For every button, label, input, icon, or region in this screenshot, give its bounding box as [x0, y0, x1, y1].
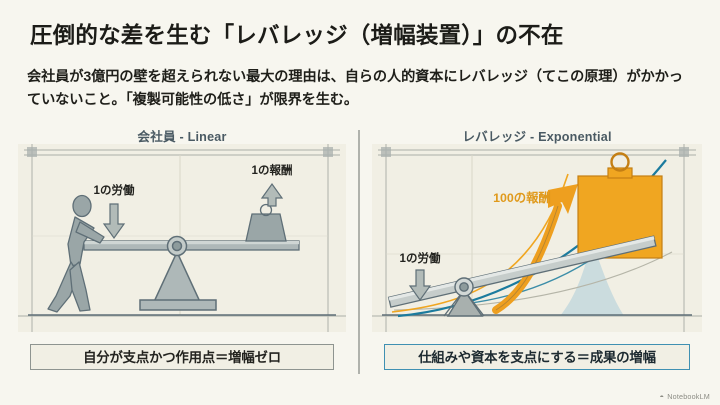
- panels-container: 会社員 - Linear: [0, 124, 720, 382]
- page-title: 圧倒的な差を生む「レバレッジ（増幅装置）」の不在: [30, 18, 564, 50]
- right-output-label: 100の報酬: [493, 190, 551, 205]
- page-subtitle: 会社員が3億円の壁を超えられない最大の理由は、自らの人的資本にレバレッジ（てこの…: [27, 66, 687, 112]
- panel-left-linear: 会社員 - Linear: [8, 124, 356, 382]
- left-output-label: 1の報酬: [252, 163, 293, 177]
- panel-right-caption: 仕組みや資本を支点にする＝成果の増幅: [384, 344, 690, 370]
- notebooklm-label: NotebookLM: [667, 392, 710, 401]
- left-input-label: 1の労働: [94, 183, 135, 197]
- panel-right-exponential: レバレッジ - Exponential: [362, 124, 712, 382]
- panel-right-illustration: 1の労働 100の報酬: [372, 144, 702, 332]
- panel-left-illustration: 1の労働 1の報酬: [18, 144, 346, 332]
- panel-right-title: レバレッジ - Exponential: [362, 126, 712, 145]
- panel-divider: [358, 130, 360, 374]
- notebooklm-logo-icon: ◓: [660, 392, 665, 401]
- right-input-label: 1の労働: [400, 251, 441, 265]
- slide-root: 圧倒的な差を生む「レバレッジ（増幅装置）」の不在 会社員が3億円の壁を超えられな…: [0, 0, 720, 405]
- panel-left-title: 会社員 - Linear: [8, 126, 356, 145]
- panel-left-caption: 自分が支点かつ作用点＝増幅ゼロ: [30, 344, 334, 370]
- notebooklm-watermark: ◓ NotebookLM: [660, 392, 711, 401]
